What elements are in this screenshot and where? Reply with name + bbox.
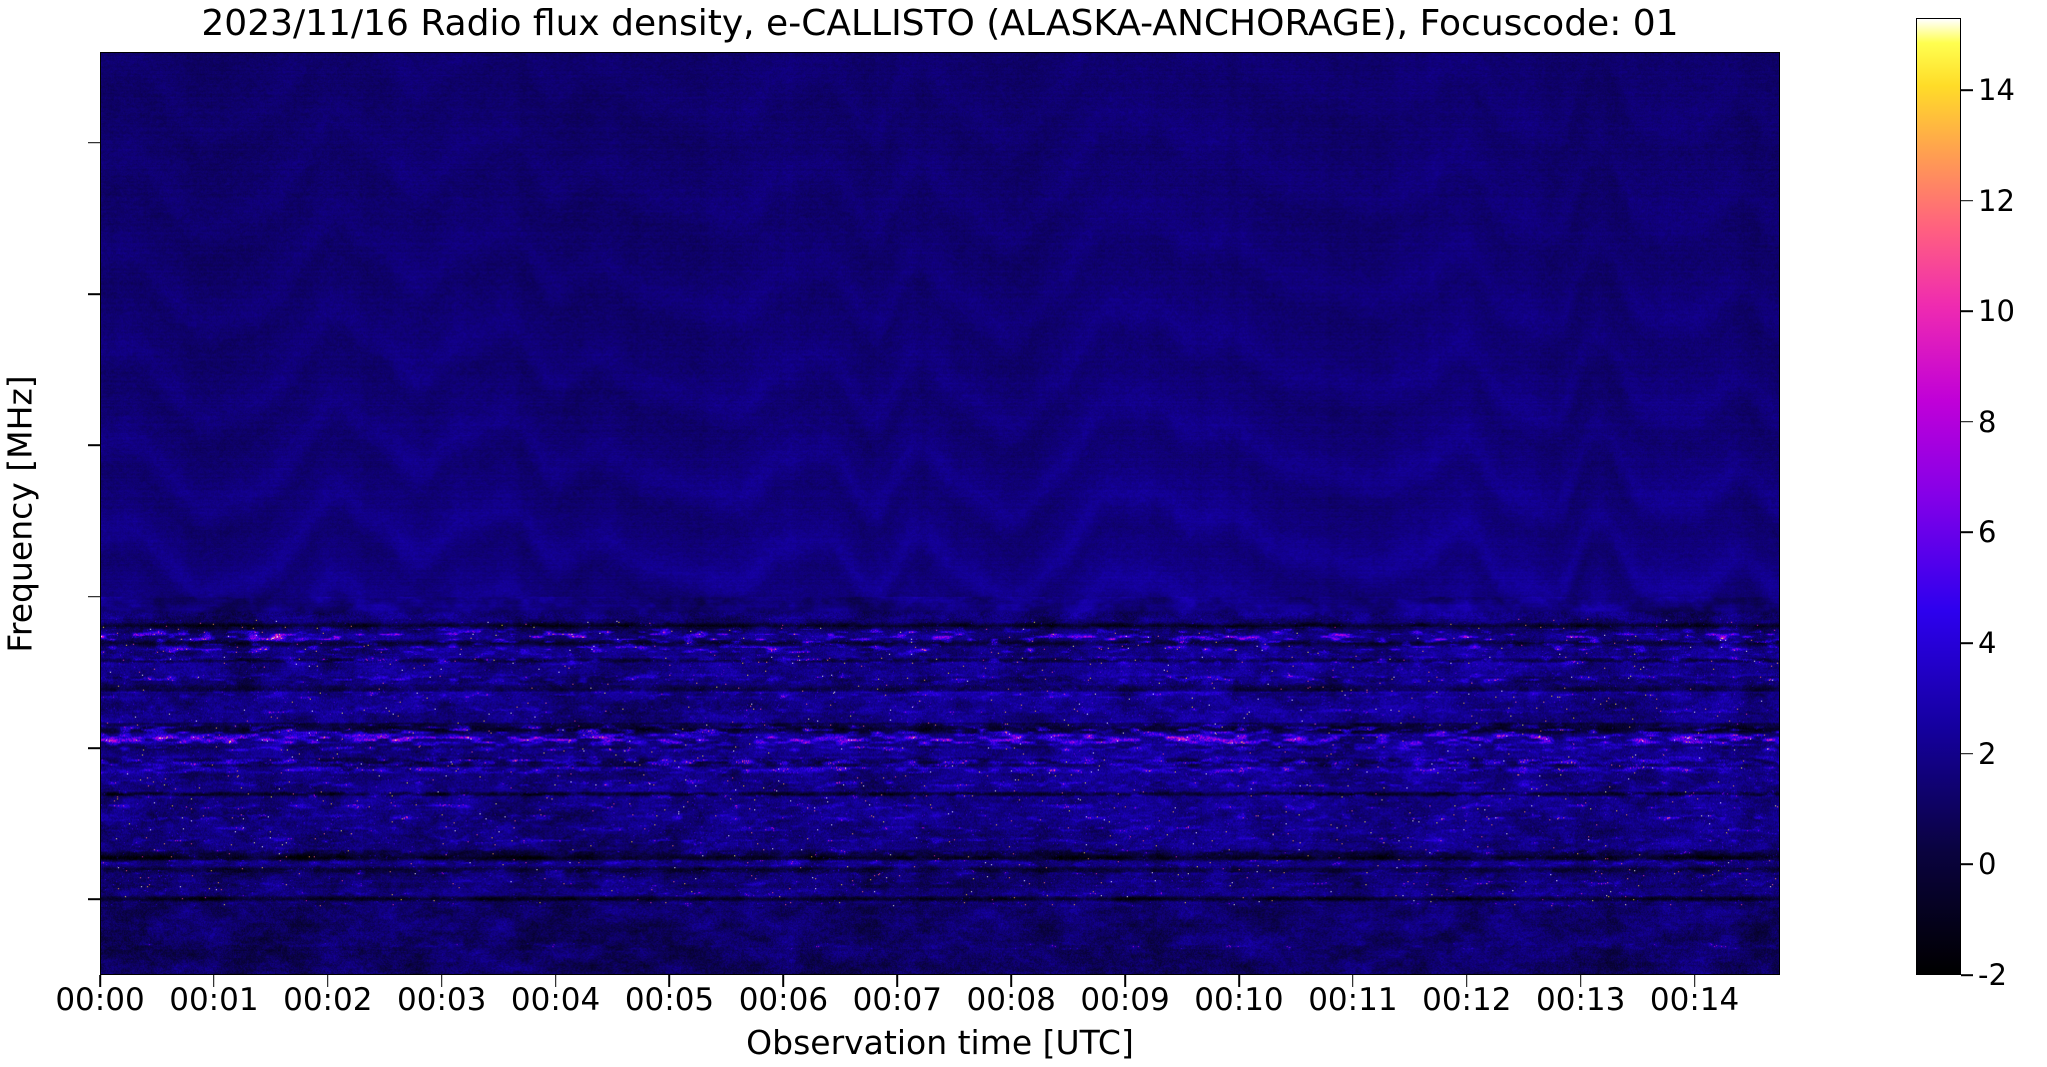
x-tick-label: 00:02 — [283, 982, 372, 1018]
y-tick-mark — [88, 293, 100, 295]
colorbar-tick-mark — [1961, 974, 1973, 976]
colorbar-tick-label: 2 — [1978, 737, 1996, 771]
x-tick-label: 00:03 — [397, 982, 486, 1018]
x-tick-label: 00:13 — [1536, 982, 1625, 1018]
y-tick-mark — [88, 142, 100, 144]
x-tick-label: 00:04 — [511, 982, 600, 1018]
colorbar-tick-mark — [1961, 753, 1973, 755]
colorbar-tick-label: 14 — [1978, 73, 2015, 107]
figure-canvas: 2023/11/16 Radio flux density, e-CALLIST… — [0, 0, 2047, 1067]
y-axis-group: Frequency [MHz] — [0, 52, 1, 975]
x-tick-label: 00:08 — [967, 982, 1056, 1018]
y-tick-mark — [88, 596, 100, 598]
colorbar-tick-mark — [1961, 310, 1973, 312]
x-tick-label: 00:12 — [1422, 982, 1511, 1018]
y-tick-mark — [88, 445, 100, 447]
page-title: 2023/11/16 Radio flux density, e-CALLIST… — [100, 2, 1780, 46]
y-tick-mark — [88, 747, 100, 749]
x-tick-label: 00:05 — [625, 982, 714, 1018]
colorbar[interactable] — [1916, 18, 1961, 975]
y-axis-label: Frequency [MHz] — [1, 164, 40, 864]
x-tick-label: 00:06 — [739, 982, 828, 1018]
x-axis-label: Observation time [UTC] — [100, 1023, 1780, 1062]
x-tick-label: 00:11 — [1308, 982, 1397, 1018]
spectrogram-axes[interactable] — [100, 52, 1780, 975]
x-tick-label: 00:07 — [853, 982, 942, 1018]
colorbar-tick-mark — [1961, 89, 1973, 91]
y-tick-mark — [88, 899, 100, 901]
colorbar-gradient — [1917, 19, 1960, 974]
colorbar-tick-label: 10 — [1978, 294, 2015, 328]
colorbar-tick-mark — [1961, 642, 1973, 644]
colorbar-tick-label: 12 — [1978, 184, 2015, 218]
colorbar-tick-mark — [1961, 532, 1973, 534]
spectrogram-image — [101, 53, 1779, 974]
x-tick-label: 00:00 — [55, 982, 144, 1018]
colorbar-tick-label: 0 — [1978, 847, 1996, 881]
colorbar-tick-mark — [1961, 864, 1973, 866]
colorbar-tick-label: 4 — [1978, 626, 1996, 660]
colorbar-tick-mark — [1961, 200, 1973, 202]
colorbar-tick-label: -2 — [1978, 958, 2007, 992]
x-tick-label: 00:09 — [1080, 982, 1169, 1018]
x-tick-label: 00:01 — [169, 982, 258, 1018]
colorbar-tick-label: 6 — [1978, 515, 1996, 549]
x-tick-label: 00:10 — [1194, 982, 1283, 1018]
colorbar-tick-label: 8 — [1978, 405, 1996, 439]
colorbar-tick-mark — [1961, 421, 1973, 423]
x-tick-label: 00:14 — [1650, 982, 1739, 1018]
